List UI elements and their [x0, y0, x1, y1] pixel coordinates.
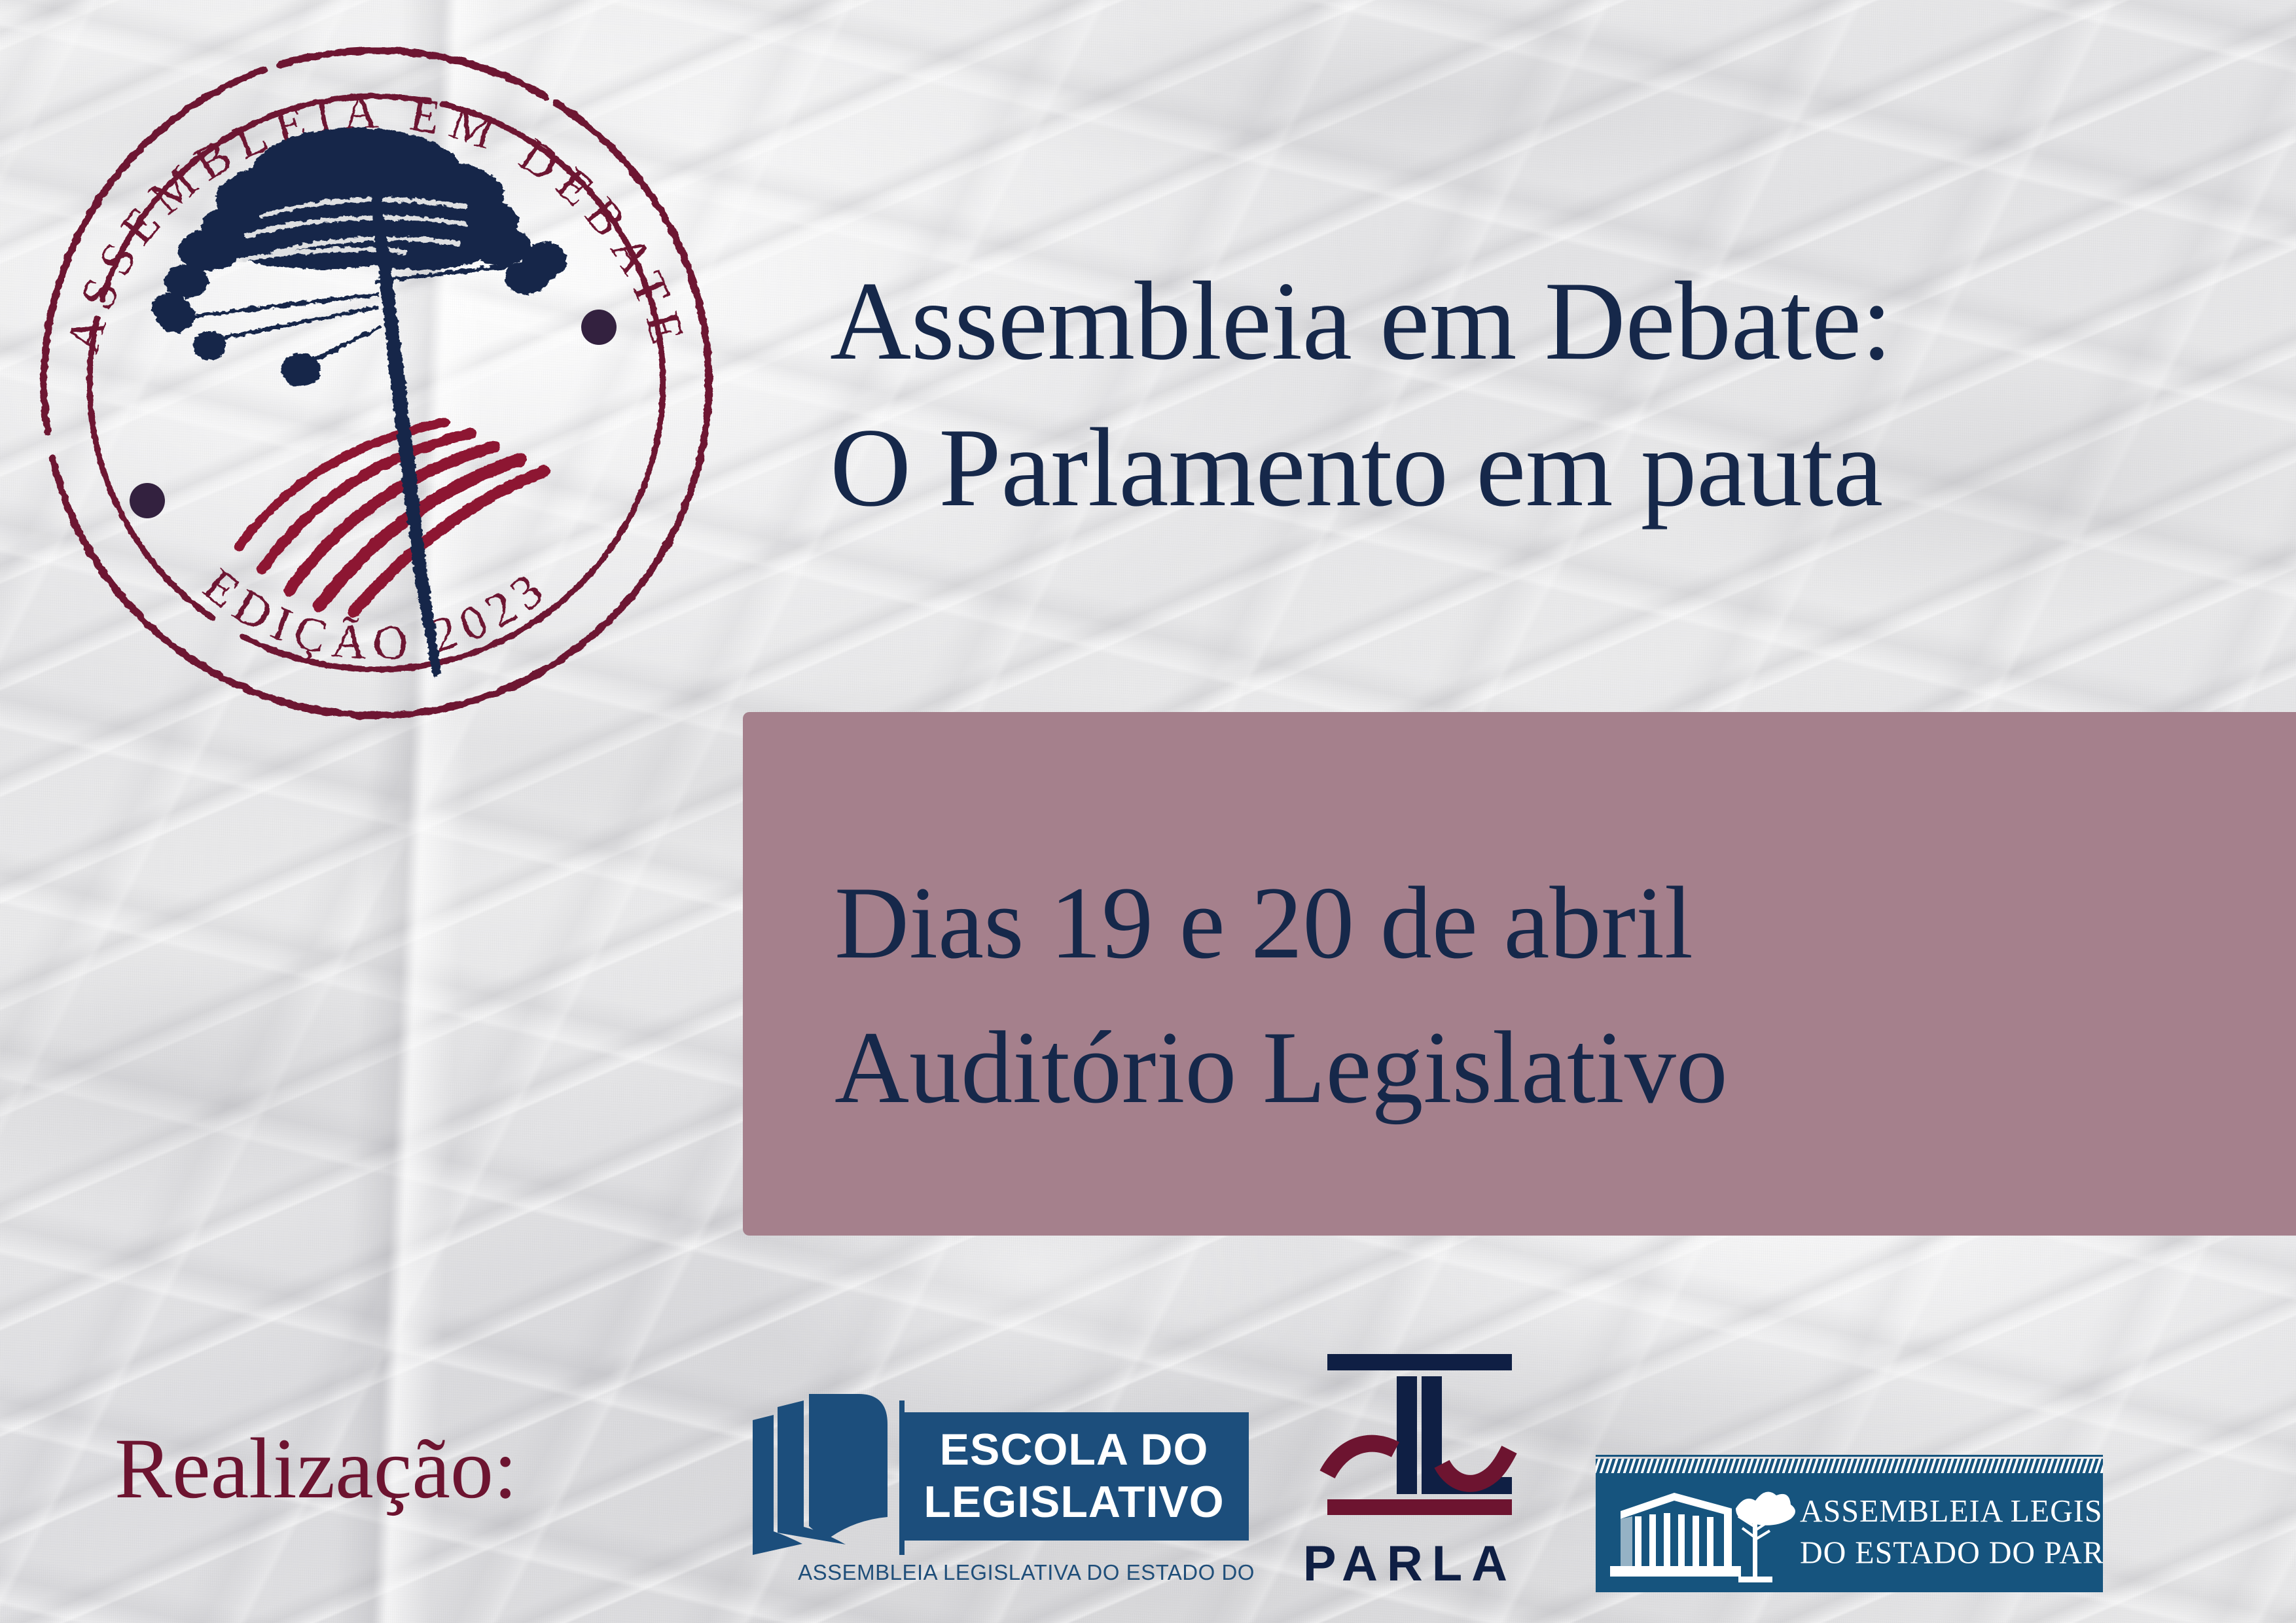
stamp-dot-right	[581, 310, 617, 345]
logo-assembleia-legislativa-parana[interactable]: ASSEMBLEIA LEGISLATIVA DO ESTADO DO PARA…	[1596, 1448, 2103, 1599]
escola-subtitle: ASSEMBLEIA LEGISLATIVA DO ESTADO DO PARA…	[798, 1560, 1258, 1584]
escola-line-1: ESCOLA DO	[940, 1425, 1209, 1474]
poster-title-line-1: Assembleia em Debate:	[830, 249, 2204, 395]
escola-line-2: LEGISLATIVO	[924, 1477, 1224, 1527]
stamp-arc-bottom-text: EDIÇÃO 2023	[193, 558, 560, 671]
open-book-icon	[753, 1394, 905, 1555]
alep-line-1: ASSEMBLEIA LEGISLATIVA	[1800, 1494, 2103, 1529]
poster-title-line-2: O Parlamento em pauta	[830, 395, 2204, 542]
parla-wordmark: PARLA	[1303, 1536, 1516, 1592]
date-line: Dias 19 e 20 de abril	[834, 851, 2242, 995]
logo-escola-do-legislativo[interactable]: ESCOLA DO LEGISLATIVO ASSEMBLEIA LEGISLA…	[747, 1393, 1258, 1615]
poster-title: Assembleia em Debate: O Parlamento em pa…	[830, 249, 2204, 541]
realizacao-label: Realização:	[115, 1425, 518, 1512]
assembleia-em-debate-stamp: ASSEMBLEIA EM DEBATE EDIÇÃO 2023	[13, 20, 740, 746]
venue-line: Auditório Legislativo	[834, 995, 2242, 1140]
stamp-dot-left	[130, 483, 165, 518]
logo-parla[interactable]: PARLA	[1297, 1325, 1520, 1615]
poster-canvas: ASSEMBLEIA EM DEBATE EDIÇÃO 2023	[0, 0, 2296, 1623]
alep-line-2: DO ESTADO DO PARANÁ	[1800, 1535, 2103, 1571]
parla-column-wave-icon	[1327, 1354, 1512, 1515]
alep-striped-band	[1596, 1459, 2103, 1473]
date-panel-text: Dias 19 e 20 de abril Auditório Legislat…	[834, 851, 2242, 1140]
